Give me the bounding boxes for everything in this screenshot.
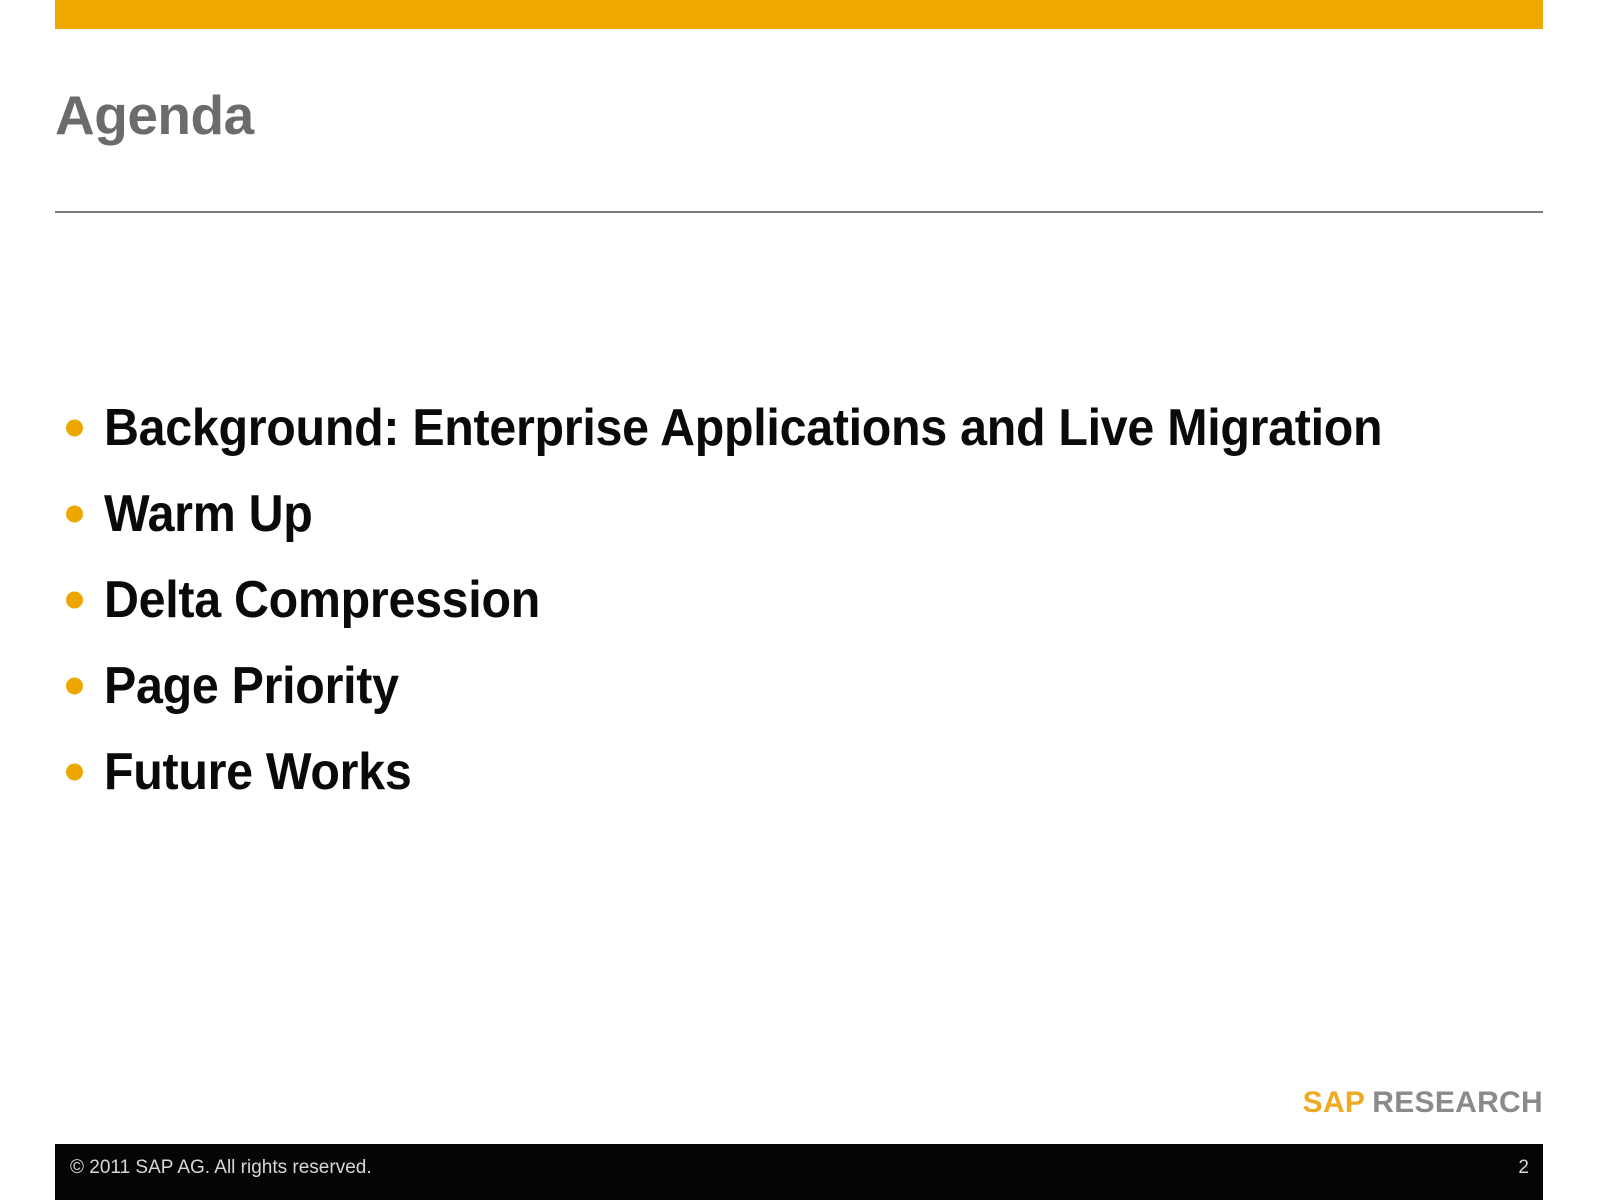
list-item-label: Warm Up — [104, 488, 313, 540]
title-divider — [55, 211, 1543, 213]
list-item-label: Page Priority — [104, 660, 399, 712]
bullet-dot-icon — [66, 764, 83, 781]
bullet-dot-icon — [66, 678, 83, 695]
slide: Agenda Background: Enterprise Applicatio… — [0, 0, 1600, 1200]
agenda-list: Background: Enterprise Applications and … — [60, 385, 1540, 815]
list-item[interactable]: Future Works — [60, 729, 1540, 815]
brand-logo: SAPRESEARCH — [1303, 1088, 1543, 1118]
list-item[interactable]: Delta Compression — [60, 557, 1540, 643]
bullet-dot-icon — [66, 592, 83, 609]
list-item[interactable]: Page Priority — [60, 643, 1540, 729]
list-item-label: Delta Compression — [104, 574, 540, 626]
footer-bar: © 2011 SAP AG. All rights reserved. 2 — [55, 1144, 1543, 1200]
list-item-label: Future Works — [104, 746, 411, 798]
brand-logo-research: RESEARCH — [1372, 1086, 1543, 1119]
top-accent-bar — [55, 0, 1543, 29]
brand-logo-sap: SAP — [1303, 1086, 1366, 1119]
list-item-label: Background: Enterprise Applications and … — [104, 402, 1382, 454]
list-item[interactable]: Warm Up — [60, 471, 1540, 557]
page-number: 2 — [1518, 1157, 1529, 1179]
bullet-dot-icon — [66, 506, 83, 523]
bullet-dot-icon — [66, 420, 83, 437]
list-item[interactable]: Background: Enterprise Applications and … — [60, 385, 1540, 471]
page-title: Agenda — [55, 88, 254, 143]
footer-copyright: © 2011 SAP AG. All rights reserved. — [70, 1157, 372, 1179]
